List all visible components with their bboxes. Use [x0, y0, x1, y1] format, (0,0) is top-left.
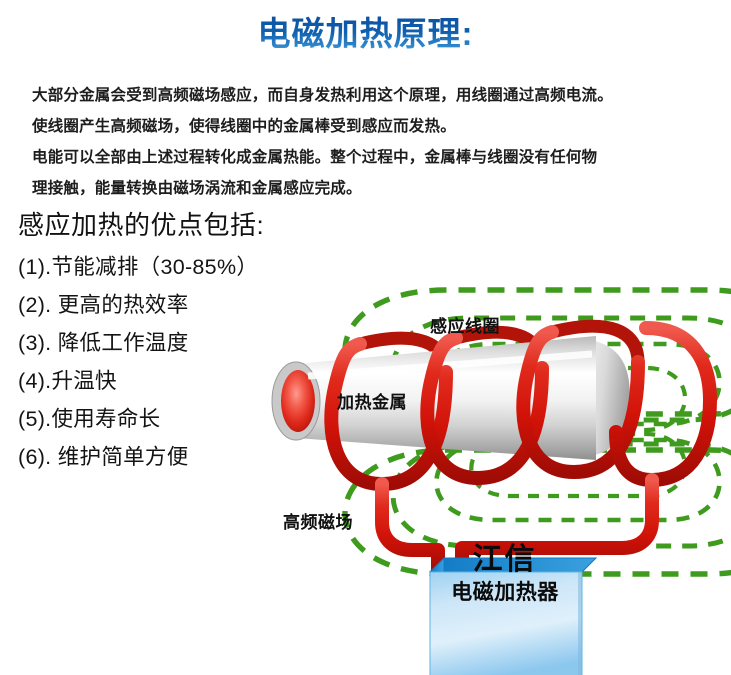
page-title: 电磁加热原理:: [0, 14, 731, 54]
intro-line-1: 大部分金属会受到高频磁场感应，而自身发热利用这个原理，用线圈通过高频电流。: [32, 80, 712, 111]
device-subtitle: 电磁加热器: [420, 580, 590, 605]
list-item: (3). 降低工作温度: [18, 324, 283, 362]
advantages-heading: 感应加热的优点包括:: [18, 208, 264, 242]
intro-paragraph: 大部分金属会受到高频磁场感应，而自身发热利用这个原理，用线圈通过高频电流。 使线…: [32, 80, 712, 204]
list-item: (6). 维护简单方便: [18, 438, 283, 476]
label-magnetic-field: 高频磁场: [283, 508, 353, 533]
label-induction-coil: 感应线圈: [430, 312, 500, 337]
list-item: (5).使用寿命长: [18, 400, 283, 438]
advantages-list: (1).节能减排（30-85%） (2). 更高的热效率 (3). 降低工作温度…: [18, 248, 283, 476]
intro-line-4: 理接触，能量转换由磁场涡流和金属感应完成。: [32, 173, 712, 204]
device-brand-name: 江信: [432, 543, 577, 577]
list-item: (1).节能减排（30-85%）: [18, 248, 283, 286]
list-item: (2). 更高的热效率: [18, 286, 283, 324]
label-heated-metal: 加热金属: [337, 388, 407, 413]
intro-line-2: 使线圈产生高频磁场，使得线圈中的金属棒受到感应而发热。: [32, 111, 712, 142]
list-item: (4).升温快: [18, 362, 283, 400]
intro-line-3: 电能可以全部由上述过程转化成金属热能。整个过程中，金属棒与线圈没有任何物: [32, 142, 712, 173]
